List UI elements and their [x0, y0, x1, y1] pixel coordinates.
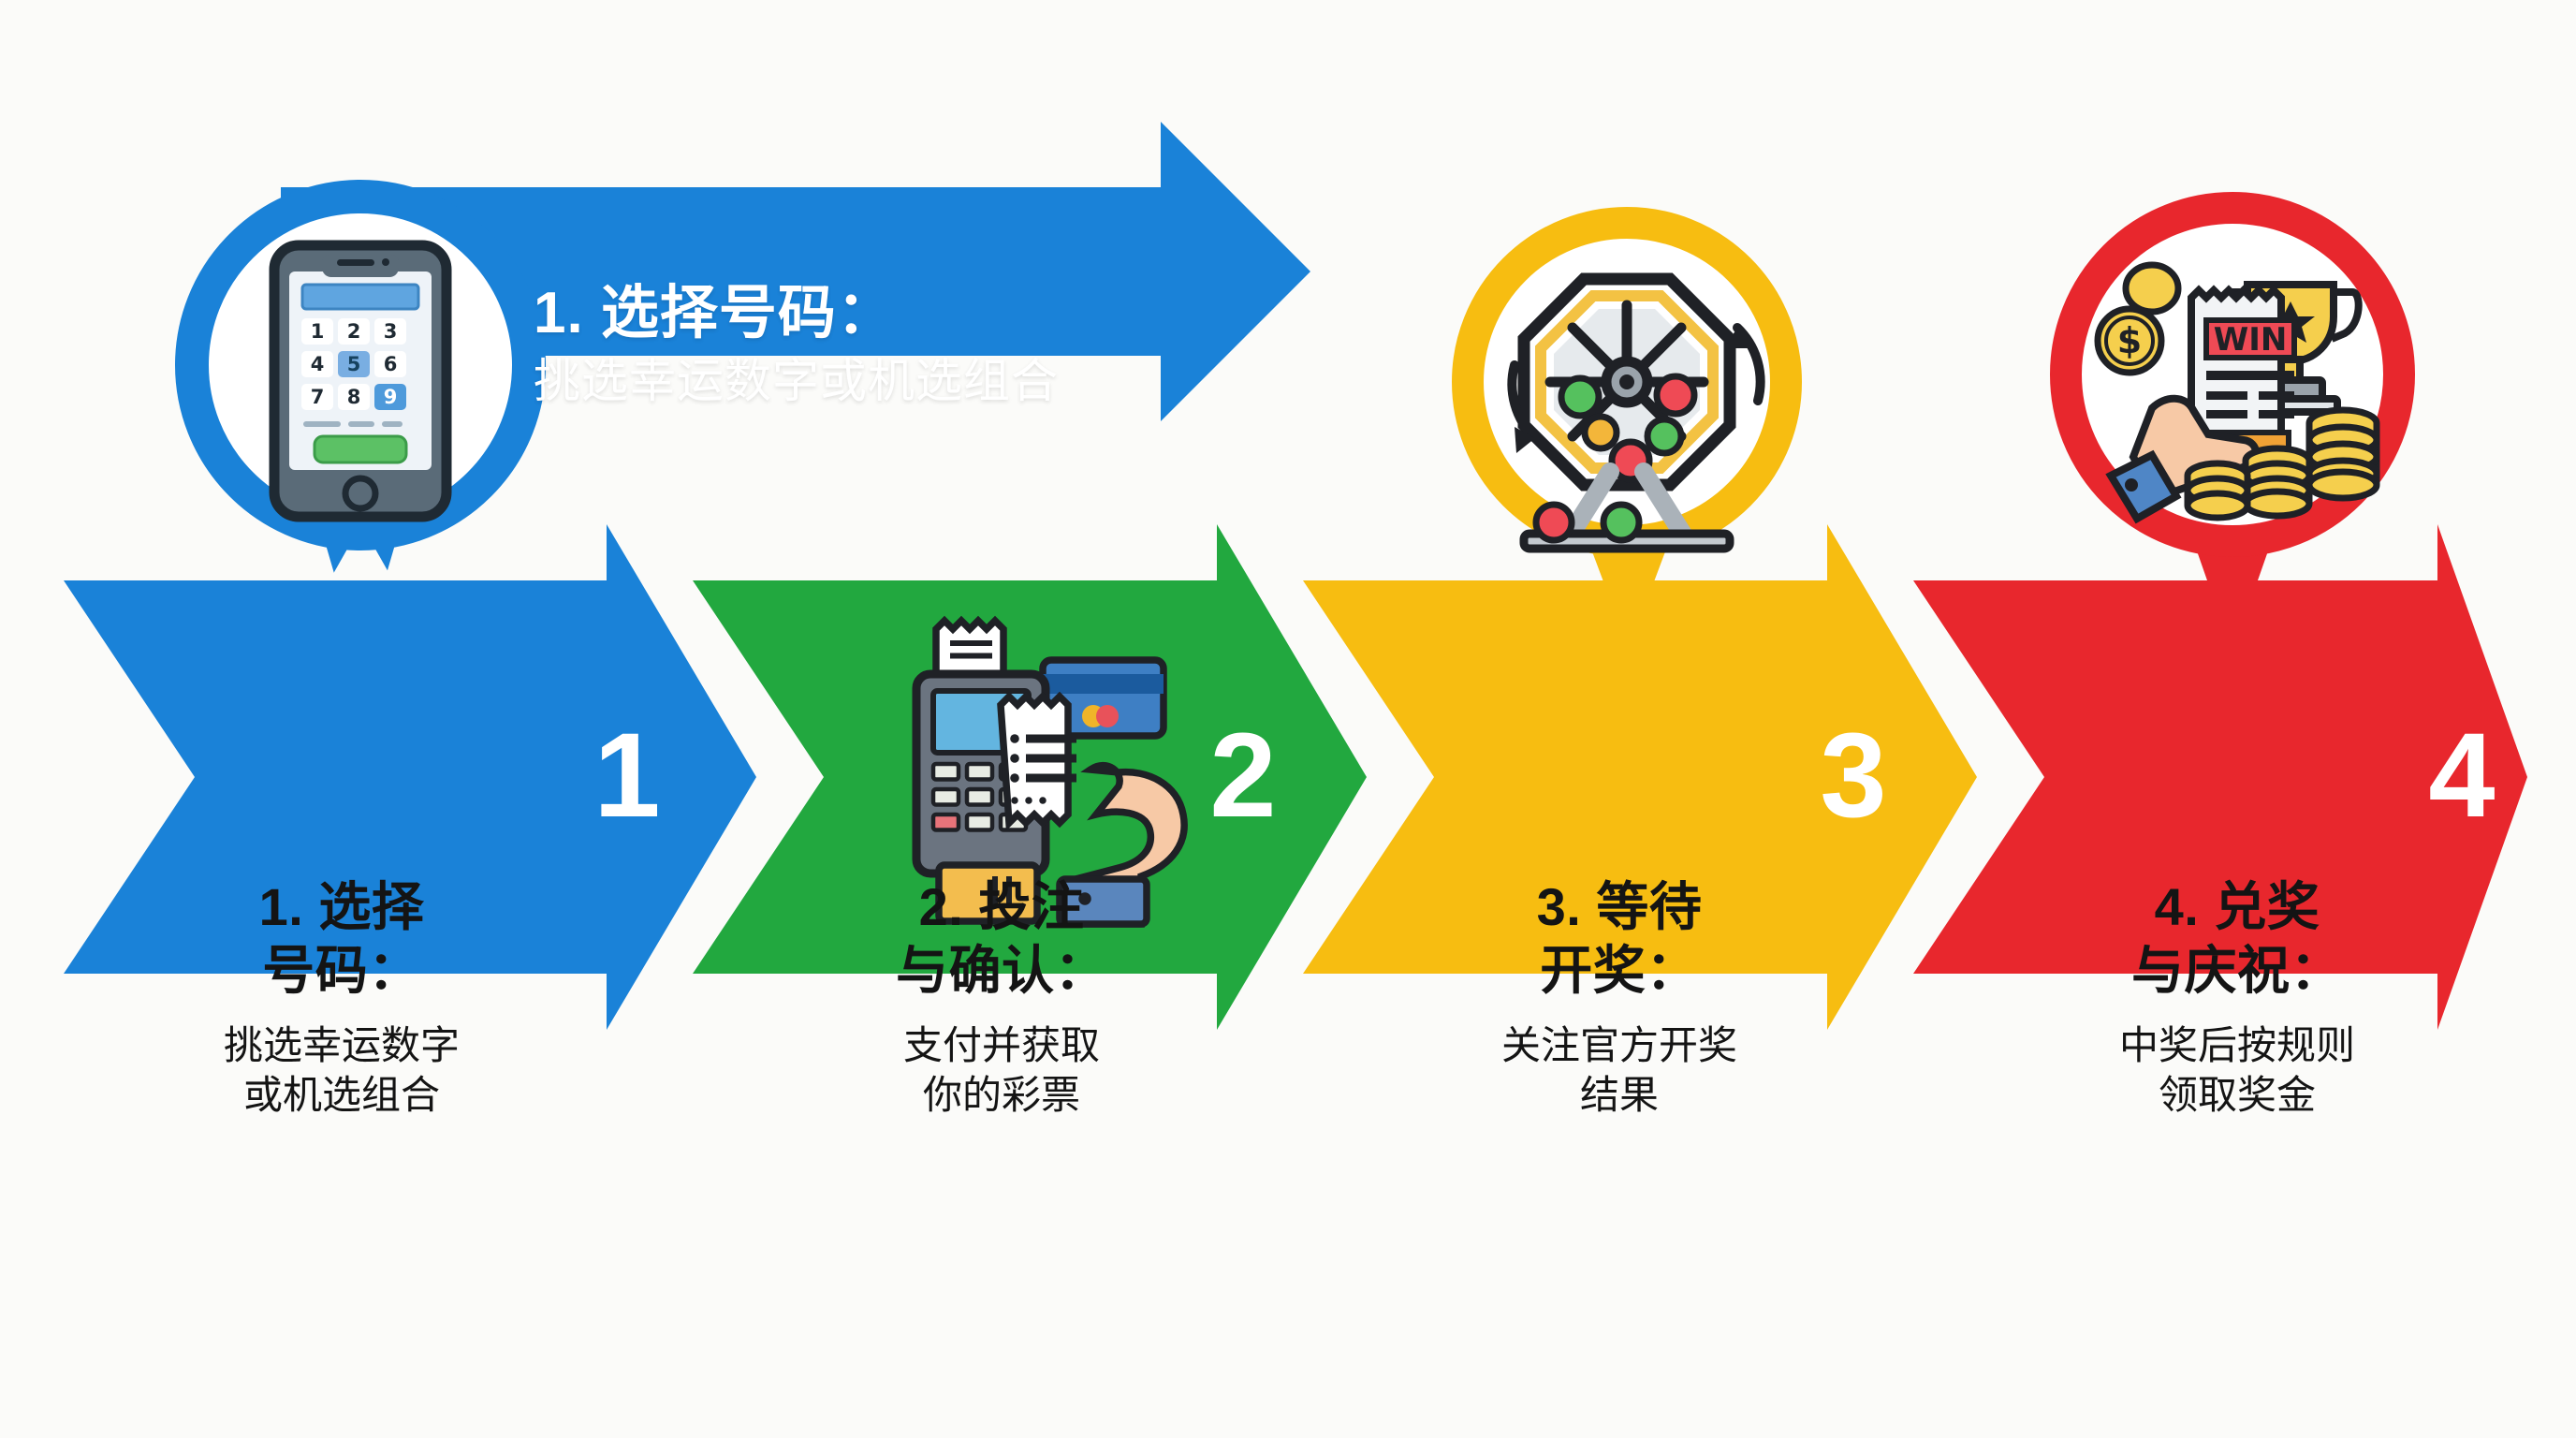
- step-caption-sub-1: 挑选幸运数字 或机选组合: [126, 1020, 557, 1122]
- step-number-3: 3: [1797, 716, 1910, 836]
- step-caption-3: 3. 等待 开奖： 关注官方开奖 结果: [1404, 875, 1835, 1121]
- svg-text:WIN: WIN: [2214, 321, 2288, 359]
- step-circle-3: [1468, 223, 1786, 549]
- svg-text:4: 4: [311, 353, 325, 375]
- step-number-4: 4: [2406, 716, 2518, 836]
- step-number-1: 1: [571, 716, 683, 836]
- step-caption-sub-2: 支付并获取 你的彩票: [786, 1020, 1217, 1122]
- svg-text:6: 6: [384, 353, 398, 375]
- svg-text:$: $: [2117, 320, 2142, 361]
- step-caption-title-3: 3. 等待 开奖：: [1404, 875, 1835, 1004]
- infographic-canvas: 1 2 3 4 5 6 7 8 9: [0, 0, 2576, 1438]
- svg-text:9: 9: [384, 386, 398, 408]
- step-number-2: 2: [1187, 716, 1299, 836]
- step-caption-4: 4. 兑奖 与庆祝： 中奖后按规则 领取奖金: [2022, 875, 2452, 1121]
- svg-text:2: 2: [347, 320, 361, 343]
- step-caption-title-2: 2. 投注 与确认：: [786, 875, 1217, 1004]
- svg-text:7: 7: [311, 386, 325, 408]
- svg-text:3: 3: [384, 320, 398, 343]
- banner-subtitle: 挑选幸运数字或机选组合: [534, 355, 1207, 407]
- step-caption-title-4: 4. 兑奖 与庆祝：: [2022, 875, 2452, 1004]
- step-caption-sub-3: 关注官方开奖 结果: [1404, 1020, 1835, 1122]
- svg-text:1: 1: [311, 320, 325, 343]
- banner-title: 1. 选择号码：: [534, 281, 1207, 345]
- svg-text:5: 5: [347, 353, 361, 375]
- step-caption-1: 1. 选择 号码： 挑选幸运数字 或机选组合: [126, 875, 557, 1121]
- step-caption-2: 2. 投注 与确认： 支付并获取 你的彩票: [786, 875, 1217, 1121]
- banner-text-block: 1. 选择号码： 挑选幸运数字或机选组合: [534, 281, 1207, 407]
- step-caption-sub-4: 中奖后按规则 领取奖金: [2022, 1020, 2452, 1122]
- step-circle-4: $ WIN: [2066, 208, 2399, 541]
- step-circle-1: 1 2 3 4 5 6 7 8 9: [192, 197, 529, 534]
- svg-text:8: 8: [347, 386, 361, 408]
- step-caption-title-1: 1. 选择 号码：: [126, 875, 557, 1004]
- smartphone-keypad-icon: 1 2 3 4 5 6 7 8 9: [274, 245, 446, 517]
